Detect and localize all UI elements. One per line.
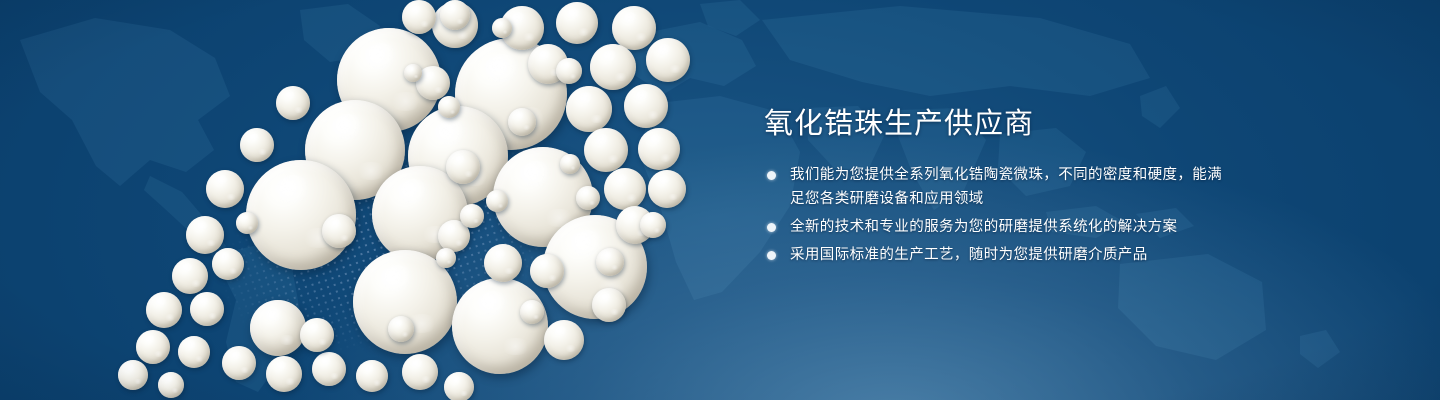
list-item-text: 我们能为您提供全系列氧化锆陶瓷微珠，不同的密度和硬度，能满足您各类研磨设备和应用… bbox=[790, 167, 1222, 207]
hero-banner: 氧化锆珠生产供应商 我们能为您提供全系列氧化锆陶瓷微珠，不同的密度和硬度，能满足… bbox=[0, 0, 1440, 400]
bullet-dot-icon bbox=[767, 223, 776, 232]
list-item: 全新的技术和专业的服务为您的研磨提供系统化的解决方案 bbox=[764, 215, 1234, 239]
page-title: 氧化锆珠生产供应商 bbox=[764, 104, 1234, 144]
list-item-text: 采用国际标准的生产工艺，随时为您提供研磨介质产品 bbox=[790, 247, 1148, 263]
list-item: 采用国际标准的生产工艺，随时为您提供研磨介质产品 bbox=[764, 243, 1234, 267]
zirconia-beads-image bbox=[0, 0, 760, 400]
feature-list: 我们能为您提供全系列氧化锆陶瓷微珠，不同的密度和硬度，能满足您各类研磨设备和应用… bbox=[764, 163, 1234, 267]
list-item-text: 全新的技术和专业的服务为您的研磨提供系统化的解决方案 bbox=[790, 219, 1177, 235]
bullet-dot-icon bbox=[767, 171, 776, 180]
list-item: 我们能为您提供全系列氧化锆陶瓷微珠，不同的密度和硬度，能满足您各类研磨设备和应用… bbox=[764, 163, 1234, 211]
banner-copy: 氧化锆珠生产供应商 我们能为您提供全系列氧化锆陶瓷微珠，不同的密度和硬度，能满足… bbox=[764, 104, 1234, 271]
bullet-dot-icon bbox=[767, 251, 776, 260]
halftone-dot-pattern bbox=[27, 61, 652, 400]
